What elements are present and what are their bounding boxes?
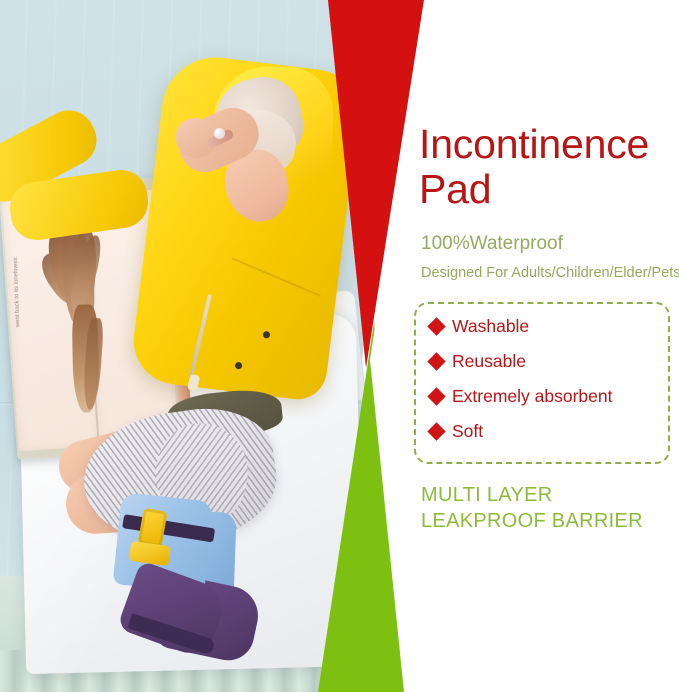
product-text-panel: Incontinence Pad 100%Waterproof Designed… (410, 0, 679, 692)
feature-item-extremely-absorbent: Extremely absorbent (430, 386, 613, 407)
product-advertisement-image: went back to its loneliness. (0, 0, 679, 692)
feature-label: Reusable (452, 351, 526, 372)
feature-item-soft: Soft (430, 421, 483, 442)
diamond-bullet-icon (427, 422, 445, 440)
target-audience-text: Designed For Adults/Children/Elder/Pets (421, 265, 679, 281)
diamond-bullet-icon (427, 352, 445, 370)
feature-label: Washable (452, 316, 529, 337)
diamond-bullet-icon (427, 317, 445, 335)
title-line-2: Pad (419, 166, 491, 212)
diamond-bullet-icon (427, 387, 445, 405)
feature-item-washable: Washable (430, 316, 529, 337)
feature-label: Extremely absorbent (452, 386, 613, 407)
page-title: Incontinence Pad (419, 122, 677, 212)
feature-label: Soft (452, 421, 483, 442)
waterproof-subtitle: 100%Waterproof (421, 233, 563, 255)
tagline-line-1: MULTI LAYER (421, 484, 552, 506)
feature-item-reusable: Reusable (430, 351, 526, 372)
title-line-1: Incontinence (419, 121, 649, 167)
product-tagline: MULTI LAYER LEAKPROOF BARRIER (421, 482, 643, 534)
feature-list-box: Washable Reusable Extremely absorbent So… (414, 302, 670, 464)
tagline-line-2: LEAKPROOF BARRIER (421, 510, 643, 532)
